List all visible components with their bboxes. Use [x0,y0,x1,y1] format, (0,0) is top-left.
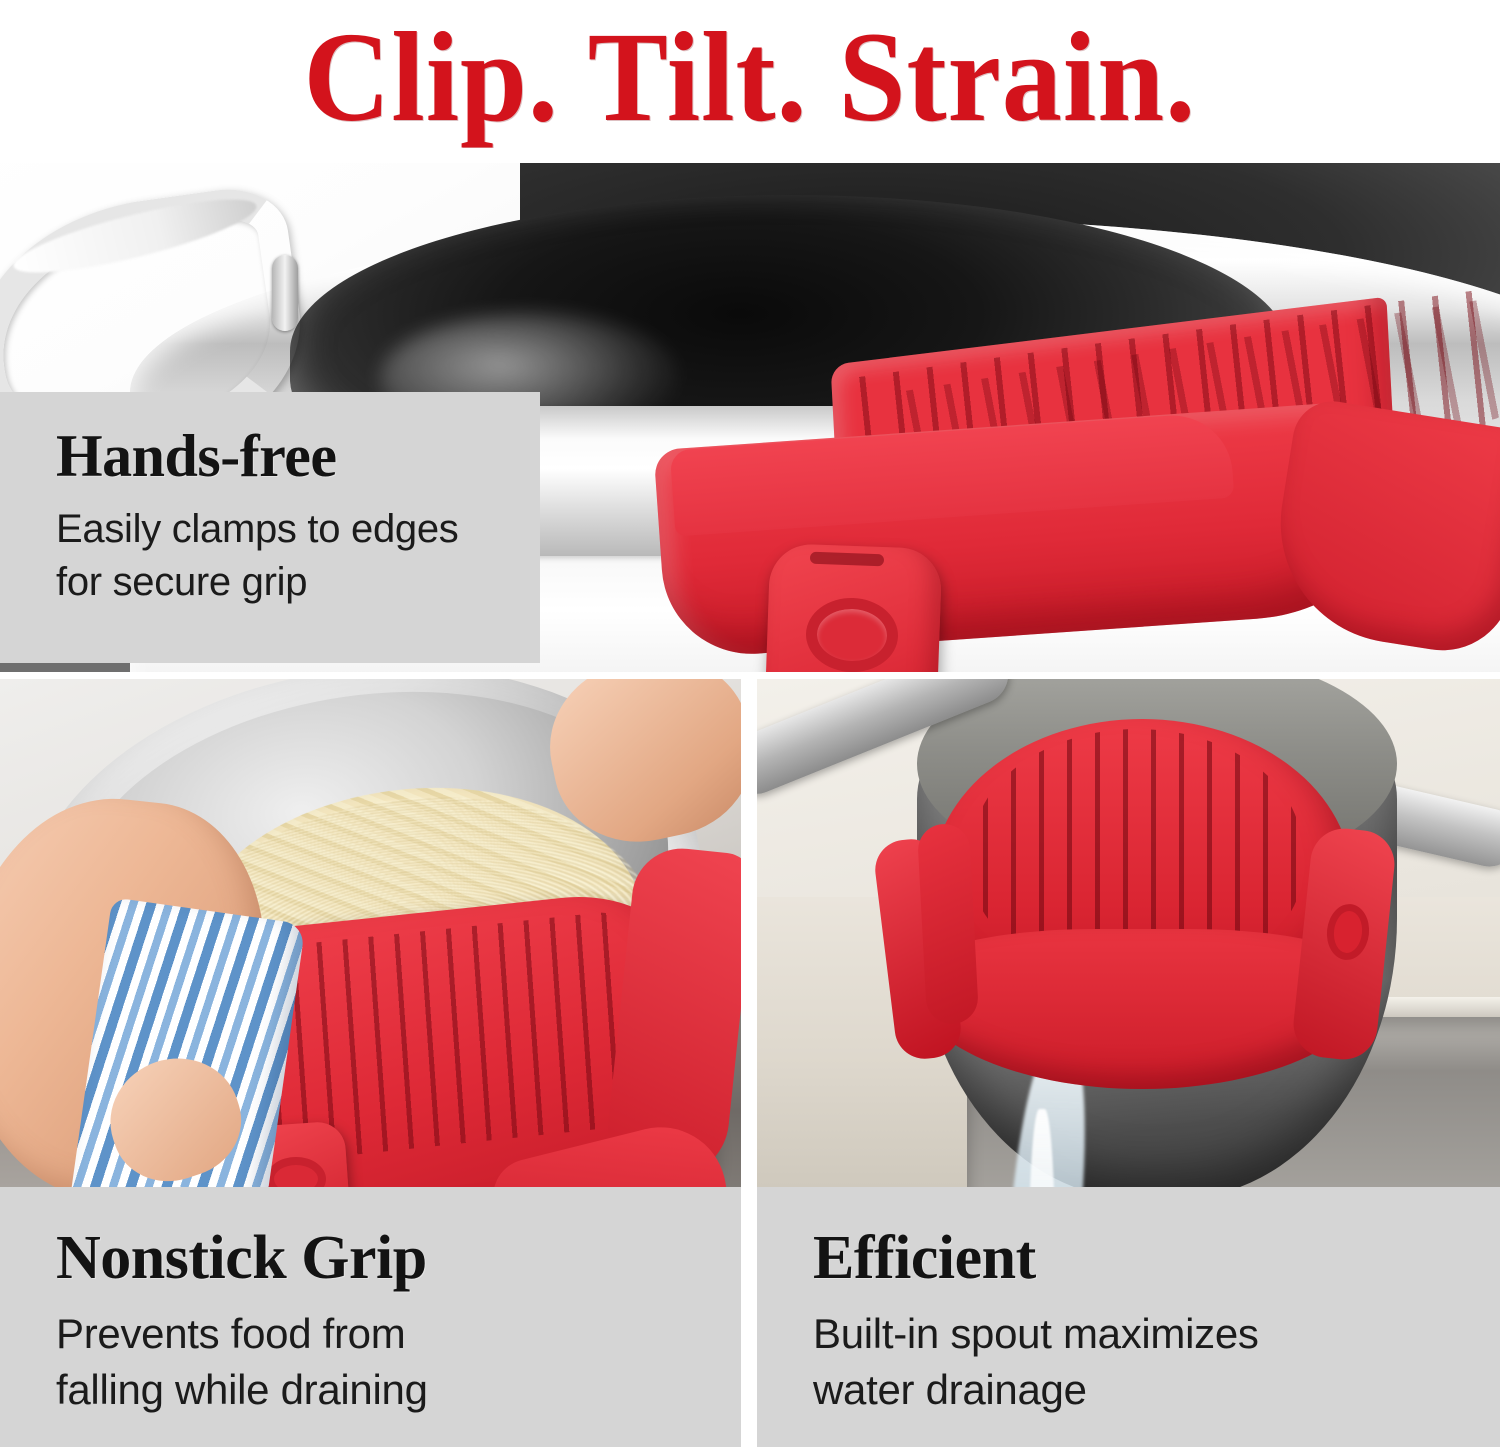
caption-body: Built-in spout maximizes water drainage [813,1306,1453,1417]
caption-nonstick-grip: Nonstick Grip Prevents food from falling… [0,1187,741,1447]
infographic-page: Clip. Tilt. Strain. Hands-free Easily cl… [0,0,1500,1447]
caption-body: Prevents food from falling while drainin… [56,1306,696,1417]
caption-efficient: Efficient Built-in spout maximizes water… [757,1187,1500,1447]
photo-efficient [757,679,1500,1187]
strainer-clip-slot [810,552,884,567]
page-title: Clip. Tilt. Strain. [304,13,1197,151]
photo-nonstick-grip [0,679,741,1187]
photo-divider-vertical [741,679,757,1447]
caption-title: Nonstick Grip [56,1227,741,1290]
caption-hands-free: Hands-free Easily clamps to edges for se… [0,392,540,663]
caption-title: Efficient [813,1227,1500,1290]
strainer-clip-left-inner [917,823,979,1025]
photo-divider-horizontal [0,672,1500,679]
caption-body: Easily clamps to edges for secure grip [56,503,526,609]
caption-title: Hands-free [56,426,540,487]
headline-bar: Clip. Tilt. Strain. [0,0,1500,163]
pot-handle-rivet [272,255,298,331]
